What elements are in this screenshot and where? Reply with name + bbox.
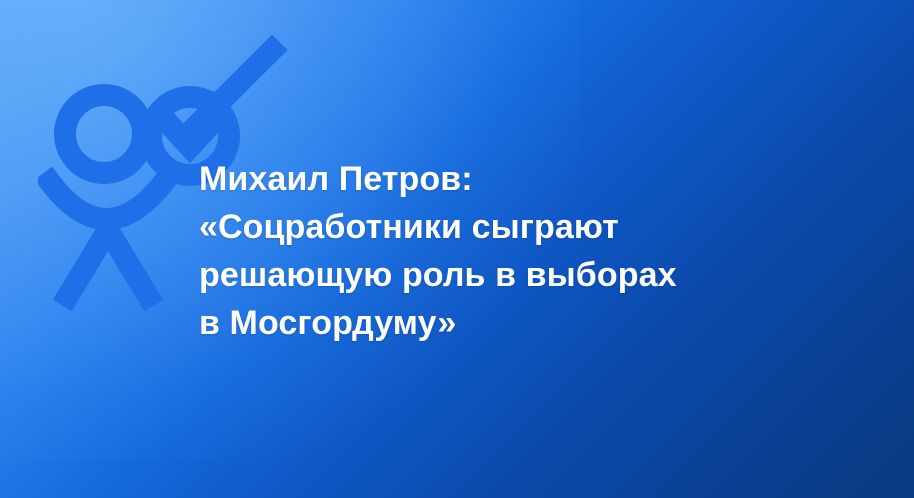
logo-legs-chevron [68,230,148,296]
logo-arms-smile-curve [50,182,164,219]
logo-check-icon [167,122,213,147]
headline-line-2: «Соцработники сыграют [199,203,719,251]
headline-line-1: Михаил Петров: [199,155,719,203]
headline: Михаил Петров: «Соцработники сыграют реш… [199,155,719,347]
banner: Михаил Петров: «Соцработники сыграют реш… [0,0,914,498]
logo-head-ring-left [65,95,143,173]
logo-diagonal-stroke [188,50,272,134]
headline-line-4: в Мосгордуму» [199,299,719,347]
headline-line-3: решающую роль в выборах [199,251,719,299]
